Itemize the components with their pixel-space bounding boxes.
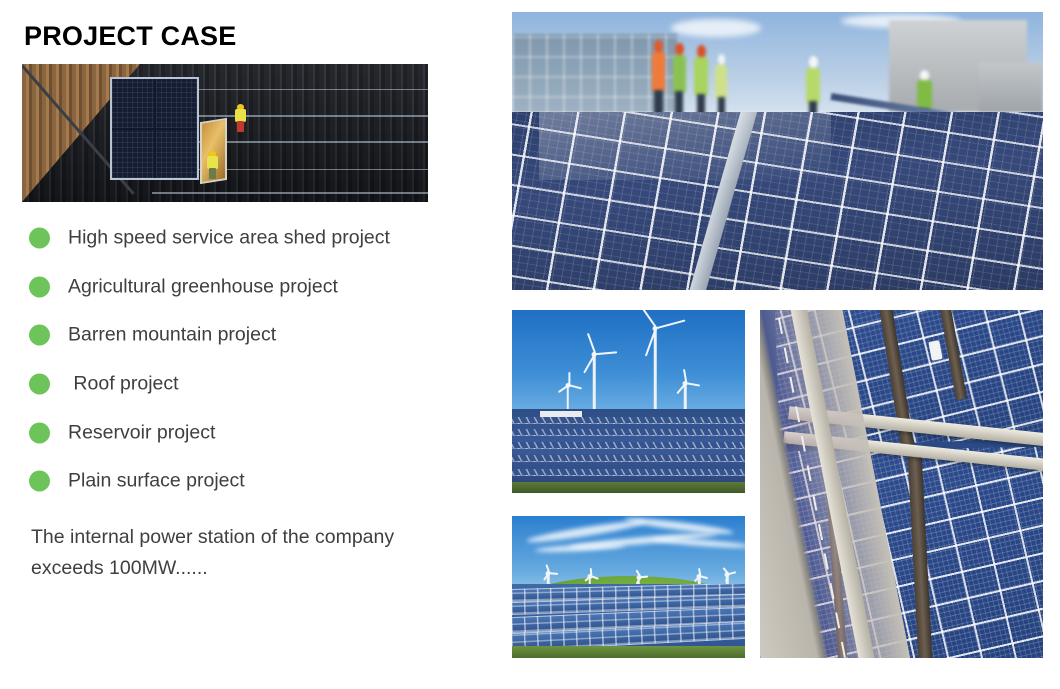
rooftop-solar-workers-photo — [512, 12, 1043, 290]
page-title: PROJECT CASE — [24, 23, 236, 50]
aerial-view — [760, 310, 1043, 658]
list-item[interactable]: Agricultural greenhouse project — [0, 263, 500, 312]
grass-strip — [512, 482, 745, 493]
list-item[interactable]: High speed service area shed project — [0, 214, 500, 263]
list-item-label: Reservoir project — [68, 421, 215, 444]
list-item-label: High speed service area shed project — [68, 227, 390, 250]
aerial-rooftop-array-photo — [760, 310, 1043, 658]
project-case-slide: PROJECT CASE High speed servi — [0, 0, 1060, 689]
solar-panel-foreground — [512, 112, 1043, 290]
gray-building-secondary — [979, 62, 1043, 118]
green-bullet-icon — [29, 422, 50, 443]
green-bullet-icon — [29, 374, 50, 395]
worker-figure — [671, 43, 687, 124]
worker-figure — [207, 151, 218, 179]
list-item[interactable]: Barren mountain project — [0, 311, 500, 360]
list-item-label: Agricultural greenhouse project — [68, 275, 338, 298]
green-bullet-icon — [29, 471, 50, 492]
green-bullet-icon — [29, 228, 50, 249]
list-item-label: Plain surface project — [68, 470, 245, 493]
wind-turbine — [642, 328, 668, 412]
installed-solar-panel-array — [110, 77, 199, 180]
rooftop-panel-installation-photo — [22, 64, 428, 202]
list-item[interactable]: Roof project — [0, 360, 500, 409]
solar-panel-rows — [512, 584, 745, 658]
list-item-label: Barren mountain project — [68, 324, 276, 347]
project-type-list: High speed service area shed project Agr… — [0, 214, 500, 506]
blue-sky — [512, 310, 745, 416]
list-item[interactable]: Reservoir project — [0, 408, 500, 457]
list-item[interactable]: Plain surface project — [0, 457, 500, 506]
list-item-label: Roof project — [68, 373, 179, 396]
grass-strip — [512, 646, 745, 658]
worker-figure — [235, 104, 246, 132]
wind-turbine — [584, 354, 604, 414]
solar-farm-wind-turbines-photo — [512, 310, 745, 493]
worker-figure — [650, 40, 667, 123]
capacity-note: The internal power station of the compan… — [31, 522, 451, 584]
ground-mounted-solar-array — [512, 409, 745, 493]
green-bullet-icon — [29, 276, 50, 297]
left-content-column: PROJECT CASE High speed servi — [0, 0, 500, 689]
green-bullet-icon — [29, 325, 50, 346]
green-hills-solar-photo — [512, 516, 745, 658]
